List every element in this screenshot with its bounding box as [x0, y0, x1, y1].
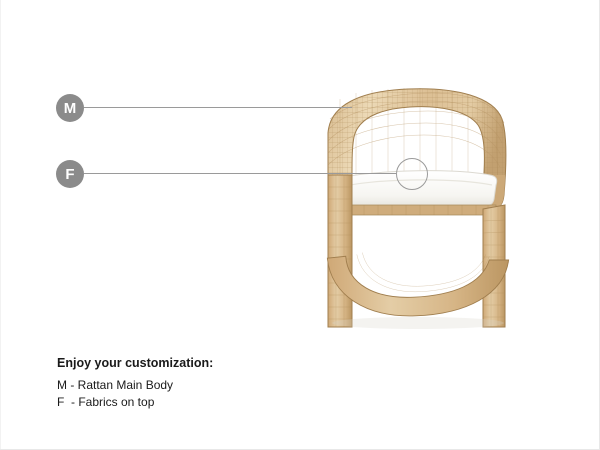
rattan-barrel-chair-illustration [300, 75, 540, 345]
marker-m-label: M [64, 100, 77, 117]
caption-line-m: M - Rattan Main Body [57, 377, 387, 394]
customization-caption: Enjoy your customization: M - Rattan Mai… [57, 356, 387, 412]
diagram-page: M F Enjoy your customization: M - Rattan… [0, 0, 600, 450]
page-border-left [0, 0, 1, 450]
fabric-hotspot-circle[interactable] [396, 158, 428, 190]
leader-line-m [84, 107, 352, 108]
caption-line-f: F - Fabrics on top [57, 394, 387, 411]
caption-title: Enjoy your customization: [57, 356, 387, 371]
marker-m[interactable]: M [56, 94, 84, 122]
leader-line-f [84, 173, 396, 174]
marker-f[interactable]: F [56, 160, 84, 188]
marker-f-label: F [65, 166, 74, 183]
